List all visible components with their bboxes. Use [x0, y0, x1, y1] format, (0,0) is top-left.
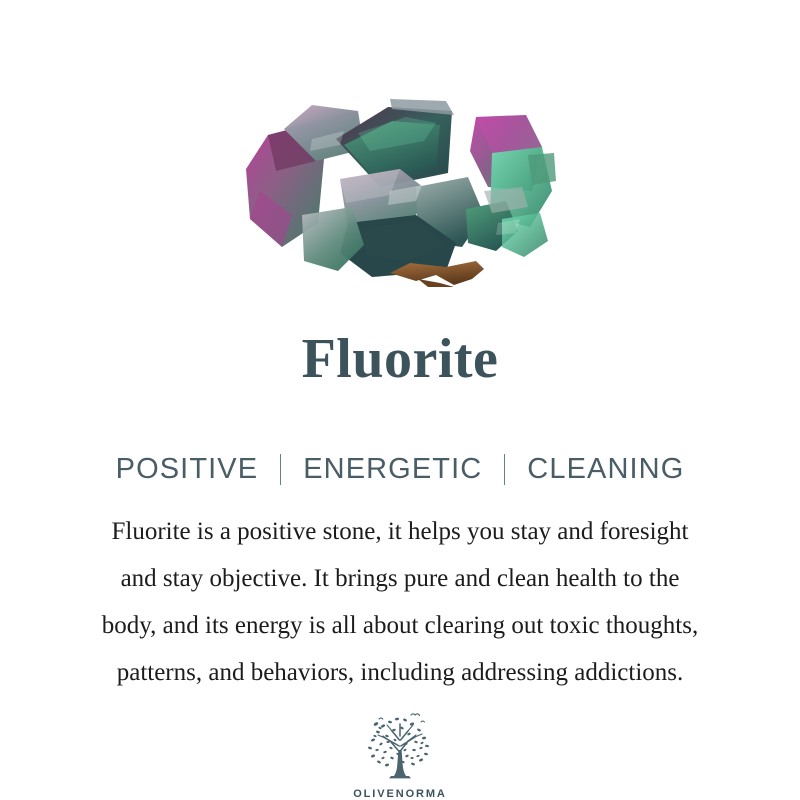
brand-logo: OLIVENORMA	[353, 710, 447, 800]
description-line: and stay objective. It brings pure and c…	[20, 555, 780, 602]
brand-name: OLIVENORMA	[353, 788, 447, 800]
keyword-list: POSITIVE ENERGETIC CLEANING	[114, 453, 687, 486]
description-text: Fluorite is a positive stone, it helps y…	[20, 508, 780, 696]
specimen-image-area	[0, 0, 800, 303]
stone-info-card: Fluorite POSITIVE ENERGETIC CLEANING Flu…	[0, 0, 800, 800]
description-line: body, and its energy is all about cleari…	[20, 602, 780, 649]
description-line: patterns, and behaviors, including addre…	[20, 649, 780, 696]
fluorite-crystal-cluster	[240, 95, 560, 291]
page-title: Fluorite	[302, 331, 499, 387]
keyword-separator	[280, 454, 281, 485]
description-line: Fluorite is a positive stone, it helps y…	[20, 508, 780, 555]
keyword-positive: POSITIVE	[114, 453, 261, 486]
olive-tree-icon	[361, 710, 439, 786]
keyword-cleaning: CLEANING	[525, 453, 686, 486]
keyword-separator	[504, 454, 505, 485]
keyword-energetic: ENERGETIC	[301, 453, 484, 486]
